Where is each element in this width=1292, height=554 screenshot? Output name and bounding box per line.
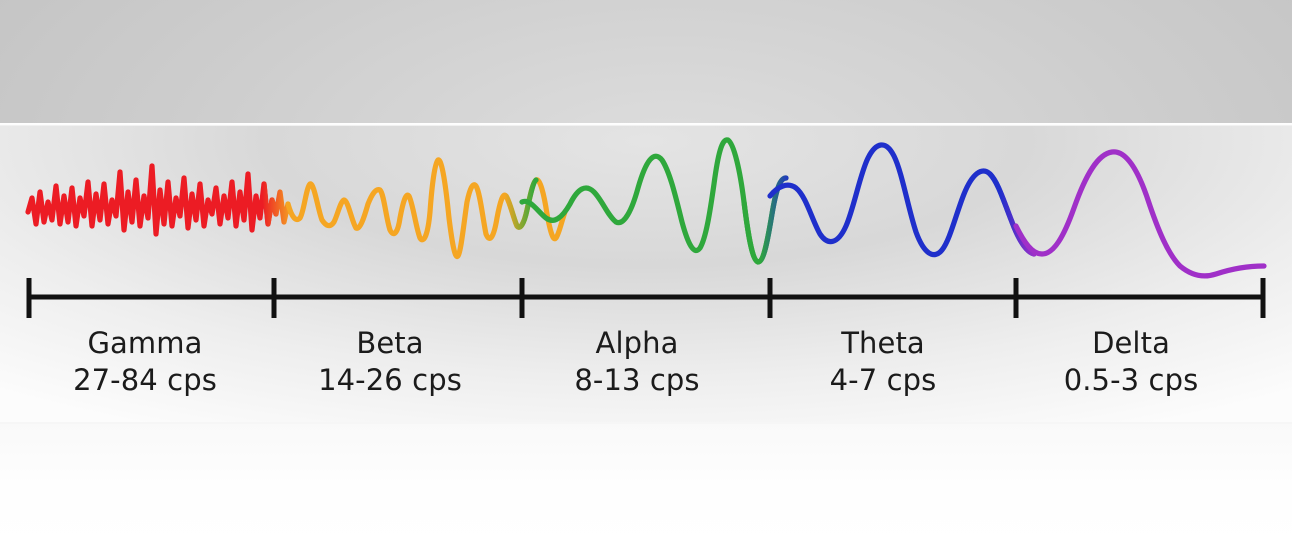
alpha-trace bbox=[522, 140, 786, 262]
frequency-axis bbox=[28, 278, 1264, 318]
alpha-theta-blend bbox=[744, 178, 786, 262]
delta-trace bbox=[1016, 152, 1264, 276]
band-name-beta: Beta bbox=[270, 327, 510, 361]
band-range-beta: 14-26 cps bbox=[270, 364, 510, 398]
band-name-gamma: Gamma bbox=[25, 327, 265, 361]
band-label-delta[interactable]: Delta 0.5-3 cps bbox=[1011, 327, 1251, 397]
band-range-theta: 4-7 cps bbox=[763, 364, 1003, 398]
waveform-segment-delta bbox=[1016, 152, 1264, 276]
band-label-alpha[interactable]: Alpha 8-13 cps bbox=[517, 327, 757, 397]
waveform-segment-alpha bbox=[522, 140, 786, 262]
band-range-delta: 0.5-3 cps bbox=[1011, 364, 1251, 398]
band-label-beta[interactable]: Beta 14-26 cps bbox=[270, 327, 510, 397]
band-range-gamma: 27-84 cps bbox=[25, 364, 265, 398]
gamma-beta-blend bbox=[264, 184, 288, 224]
band-name-delta: Delta bbox=[1011, 327, 1251, 361]
waveform-segment-beta bbox=[288, 160, 565, 257]
beta-trace bbox=[288, 160, 565, 257]
band-label-theta[interactable]: Theta 4-7 cps bbox=[763, 327, 1003, 397]
band-label-gamma[interactable]: Gamma 27-84 cps bbox=[25, 327, 265, 397]
background-top-band bbox=[0, 0, 1292, 126]
gamma-trace bbox=[28, 166, 276, 234]
background-bottom-band bbox=[0, 424, 1292, 554]
brainwave-figure: Gamma 27-84 cps Beta 14-26 cps Alpha 8-1… bbox=[0, 0, 1292, 554]
band-range-alpha: 8-13 cps bbox=[517, 364, 757, 398]
band-name-theta: Theta bbox=[763, 327, 1003, 361]
waveform-segment-gamma bbox=[28, 166, 288, 234]
theta-trace bbox=[770, 145, 1034, 255]
waveform-segment-theta bbox=[770, 145, 1034, 255]
band-name-alpha: Alpha bbox=[517, 327, 757, 361]
